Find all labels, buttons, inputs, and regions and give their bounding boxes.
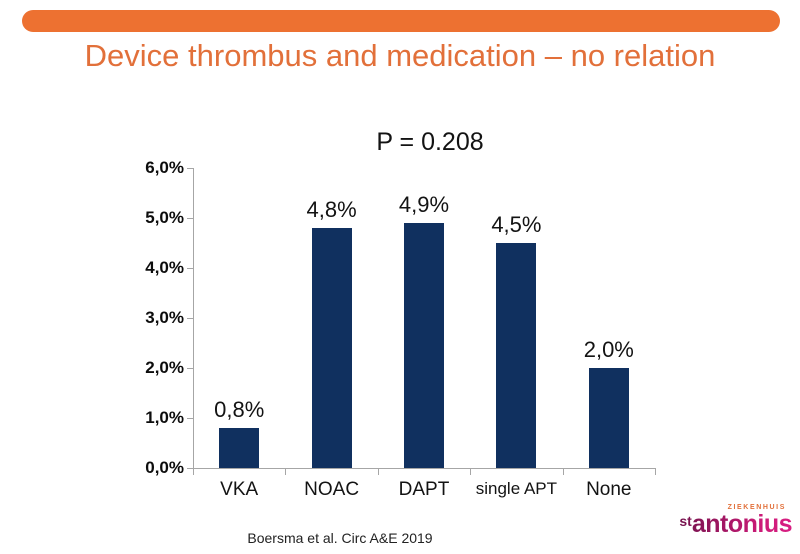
y-axis-labels: 0,0%1,0%2,0%3,0%4,0%5,0%6,0% (110, 0, 184, 554)
x-axis-tick (655, 468, 656, 475)
y-axis-tick (187, 168, 193, 169)
x-axis-tick (563, 468, 564, 475)
y-axis-tick (187, 318, 193, 319)
chart-title: P = 0.208 (200, 128, 660, 157)
y-axis-tick-label: 2,0% (114, 358, 184, 378)
y-axis-tick-label: 5,0% (114, 208, 184, 228)
bar-chart: P = 0.208 0,0%1,0%2,0%3,0%4,0%5,0%6,0% 0… (0, 0, 800, 554)
x-axis-tick (378, 468, 379, 475)
y-axis-tick-label: 0,0% (114, 458, 184, 478)
bar-single-apt (496, 243, 536, 468)
category-label-none: None (549, 479, 669, 501)
logo-wordmark: stantonius (652, 512, 792, 537)
y-axis-tick-label: 1,0% (114, 408, 184, 428)
y-axis-tick-label: 4,0% (114, 258, 184, 278)
bar-value-label: 4,5% (456, 212, 576, 238)
logo-prefix: st (679, 513, 691, 529)
bar-value-label: 0,8% (179, 397, 299, 423)
bar-dapt (404, 223, 444, 468)
bar-noac (312, 228, 352, 468)
y-axis-tick-label: 6,0% (114, 158, 184, 178)
y-axis-tick (187, 218, 193, 219)
bar-none (589, 368, 629, 468)
y-axis-tick-label: 3,0% (114, 308, 184, 328)
source-citation: Boersma et al. Circ A&E 2019 (0, 530, 680, 546)
x-axis-tick (193, 468, 194, 475)
y-axis-line (193, 168, 194, 469)
x-axis-tick (285, 468, 286, 475)
logo-name: antonius (692, 510, 792, 538)
bar-vka (219, 428, 259, 468)
bar-value-label: 2,0% (549, 337, 669, 363)
x-axis-tick (470, 468, 471, 475)
x-axis-line (193, 468, 655, 469)
y-axis-tick (187, 268, 193, 269)
y-axis-tick (187, 368, 193, 369)
hospital-logo: ZIEKENHUIS stantonius (652, 504, 792, 548)
